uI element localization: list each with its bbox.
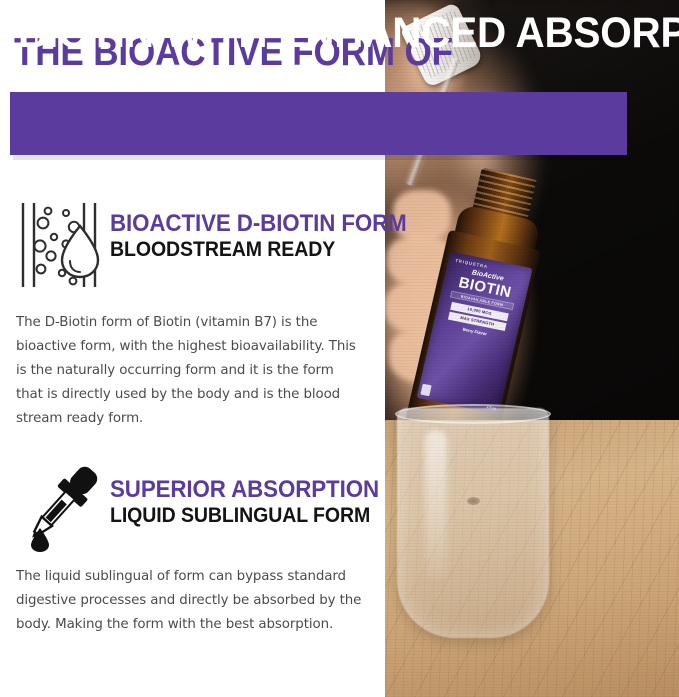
feature-1-subtitle: BLOODSTREAM READY (110, 238, 407, 261)
feature-2-heading: SUPERIOR ABSORPTION LIQUID SUBLINGUAL FO… (110, 477, 399, 527)
feature-2-body: The liquid sublingual of form can bypass… (16, 565, 364, 637)
dropper-pipette-icon (18, 456, 106, 557)
feature-1-body: The D-Biotin form of Biotin (vitamin B7)… (16, 311, 364, 431)
headline-line-2: BIOTIN WITH ENHANCED ABSORPTION (18, 9, 679, 58)
headline-banner (10, 92, 627, 155)
bloodstream-droplet-icon (18, 199, 106, 296)
infographic-page: TRIQUETRA BioActive BIOTIN BIOAVAILABLE … (0, 0, 679, 697)
feature-1-heading: BIOACTIVE D-BIOTIN FORM BLOODSTREAM READ… (110, 211, 429, 261)
label-seal-icon (420, 384, 431, 397)
glass-rim (395, 404, 551, 424)
glass-highlight (425, 430, 447, 580)
water-glass (397, 408, 549, 638)
feature-2-title: SUPERIOR ABSORPTION (110, 477, 379, 502)
product-label: TRIQUETRA BioActive BIOTIN BIOAVAILABLE … (416, 252, 532, 415)
feature-2-subtitle: LIQUID SUBLINGUAL FORM (110, 504, 379, 527)
feature-1-title: BIOACTIVE D-BIOTIN FORM (110, 211, 407, 236)
